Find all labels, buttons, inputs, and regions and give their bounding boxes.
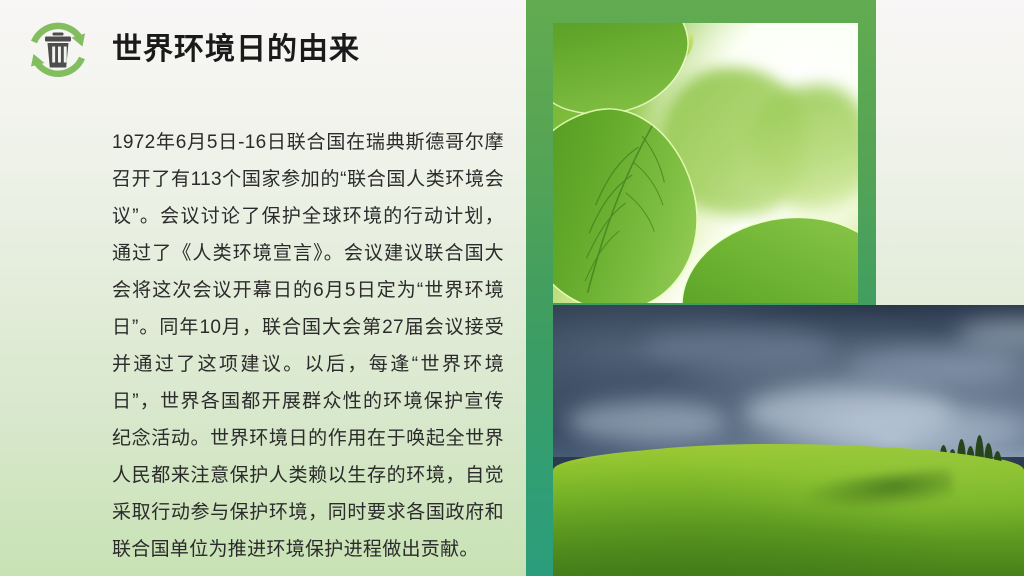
backlit-green-leaves-photo (553, 23, 858, 303)
cloud (957, 319, 1024, 349)
page-title: 世界环境日的由来 (112, 28, 360, 72)
slide-header: 世界环境日的由来 (24, 12, 494, 88)
left-content-column: 世界环境日的由来 1972年6月5日-16日联合国在瑞典斯德哥尔摩召开了有113… (0, 0, 526, 576)
slide-canvas: 世界环境日的由来 1972年6月5日-16日联合国在瑞典斯德哥尔摩召开了有113… (0, 0, 1024, 576)
green-meadow (553, 444, 1024, 576)
recycle-trash-icon (24, 16, 92, 84)
cloud (567, 401, 727, 443)
trash-bin-glyph (45, 33, 71, 68)
cloud (849, 349, 1019, 385)
stormy-sky-green-meadow-photo (553, 305, 1024, 576)
body-paragraph: 1972年6月5日-16日联合国在瑞典斯德哥尔摩召开了有113个国家参加的“联合… (112, 124, 504, 568)
cloud (643, 327, 833, 367)
